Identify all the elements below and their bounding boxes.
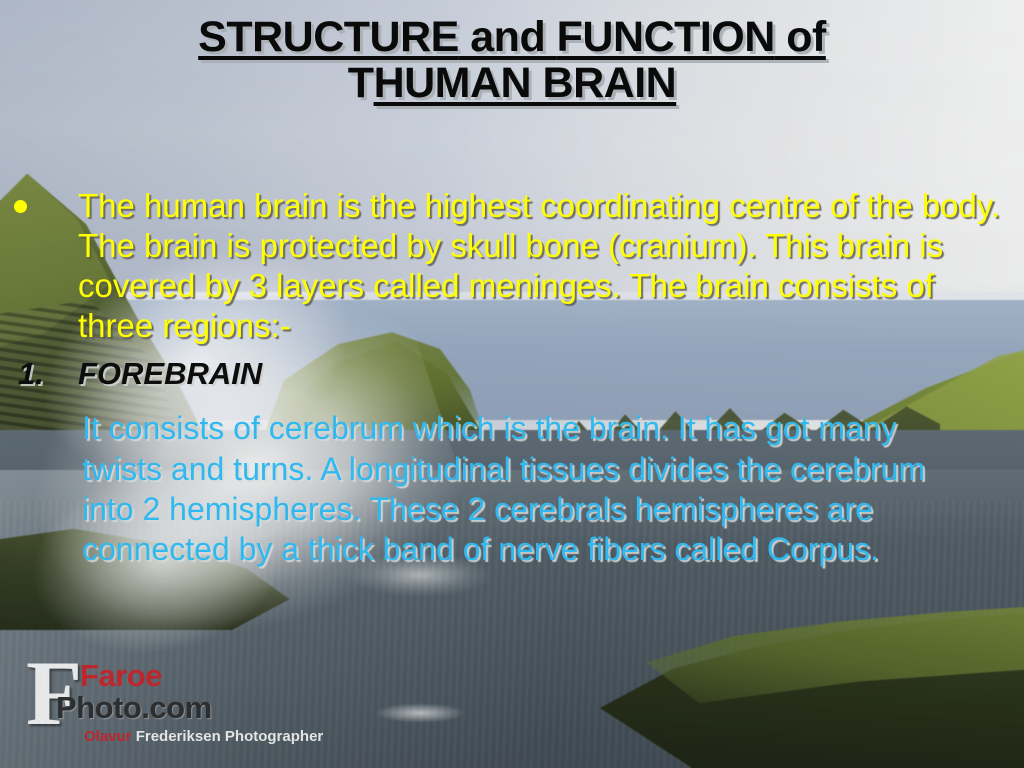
presentation-slide: STRUCTURE and FUNCTION of THUMAN BRAIN T…	[0, 0, 1024, 768]
title-line-2-main: HUMAN BRAIN	[374, 59, 677, 107]
watermark-brand-bottom: Photo.com	[56, 690, 212, 726]
forebrain-description: It consists of cerebrum which is the bra…	[82, 408, 984, 569]
title-word-function: FUNCTION	[557, 13, 775, 61]
numbered-list-item-1: 1. FOREBRAIN	[0, 356, 1024, 392]
title-line-2: THUMAN BRAIN	[0, 60, 1024, 106]
watermark-brand-top: Faroe	[80, 658, 162, 694]
title-line-2-prefix: T	[348, 59, 374, 107]
description-block: It consists of cerebrum which is the bra…	[0, 408, 1024, 569]
title-word-of: of	[775, 13, 826, 61]
bullet-point-icon	[14, 200, 27, 213]
slide-body: The human brain is the highest coordinat…	[0, 186, 1024, 570]
photo-watermark: F Faroe Photo.com Olavur Frederiksen Pho…	[26, 646, 296, 758]
watermark-credit-role: Frederiksen Photographer	[132, 728, 324, 745]
title-word-structure: STRUCTURE	[198, 13, 459, 61]
watermark-credit-name: Olavur	[84, 728, 132, 745]
title-line-1: STRUCTURE and FUNCTION of	[0, 14, 1024, 60]
watermark-credit: Olavur Frederiksen Photographer	[84, 728, 323, 745]
intro-paragraph: The human brain is the highest coordinat…	[78, 186, 1016, 346]
list-number: 1.	[18, 356, 44, 392]
slide-title: STRUCTURE and FUNCTION of THUMAN BRAIN	[0, 14, 1024, 107]
forebrain-heading: FOREBRAIN	[78, 356, 1024, 392]
title-word-and: and	[459, 13, 557, 61]
bullet-paragraph-row: The human brain is the highest coordinat…	[0, 186, 1024, 346]
